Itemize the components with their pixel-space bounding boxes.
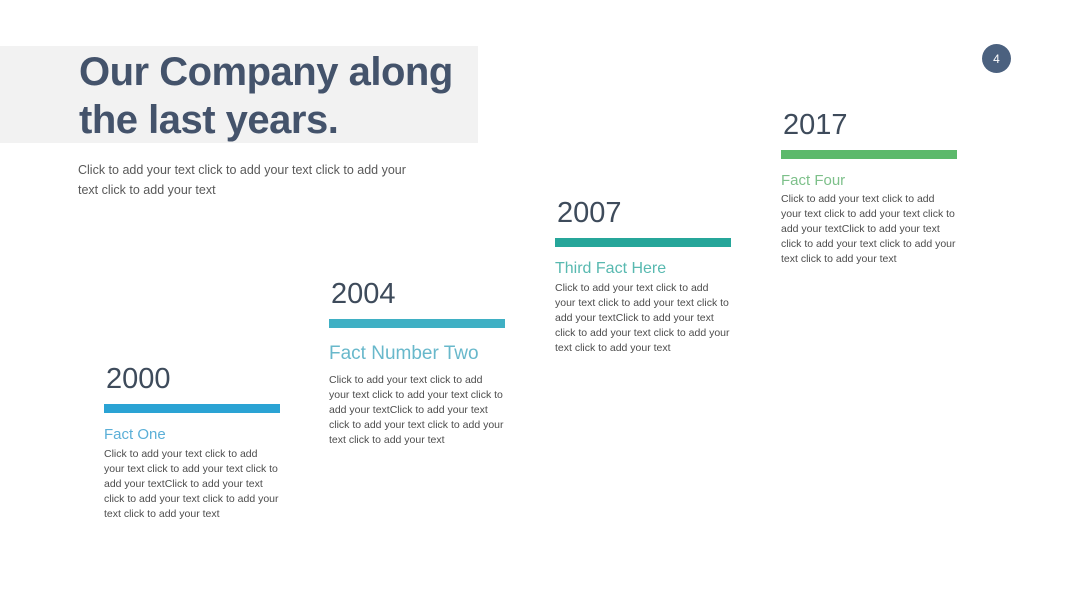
milestone-2000[interactable]: 2000 Fact One Click to add your text cli… — [104, 362, 284, 522]
milestone-accent-bar — [781, 150, 957, 159]
slide-canvas: Our Company along the last years. Click … — [0, 0, 1067, 600]
milestone-accent-bar — [555, 238, 731, 247]
milestone-body-text: Click to add your text click to add your… — [104, 447, 280, 522]
milestone-year: 2004 — [331, 277, 509, 311]
milestone-body-text: Click to add your text click to add your… — [781, 192, 957, 267]
milestone-year: 2000 — [106, 362, 284, 396]
milestone-accent-bar — [329, 319, 505, 328]
milestone-2004[interactable]: 2004 Fact Number Two Click to add your t… — [329, 277, 509, 448]
page-subtitle: Click to add your text click to add your… — [78, 160, 423, 200]
page-number-badge: 4 — [982, 44, 1011, 73]
milestone-fact-title: Third Fact Here — [555, 260, 735, 278]
page-title: Our Company along the last years. — [79, 48, 499, 144]
milestone-fact-title: Fact Four — [781, 172, 961, 190]
milestone-body-text: Click to add your text click to add your… — [555, 281, 731, 356]
milestone-accent-bar — [104, 404, 280, 413]
milestone-year: 2007 — [557, 196, 735, 230]
milestone-2007[interactable]: 2007 Third Fact Here Click to add your t… — [555, 196, 735, 356]
milestone-year: 2017 — [783, 108, 961, 142]
milestone-body-text: Click to add your text click to add your… — [329, 373, 505, 448]
milestone-fact-title: Fact Number Two — [329, 342, 509, 365]
milestone-fact-title: Fact One — [104, 426, 284, 444]
milestone-2017[interactable]: 2017 Fact Four Click to add your text cl… — [781, 108, 961, 267]
